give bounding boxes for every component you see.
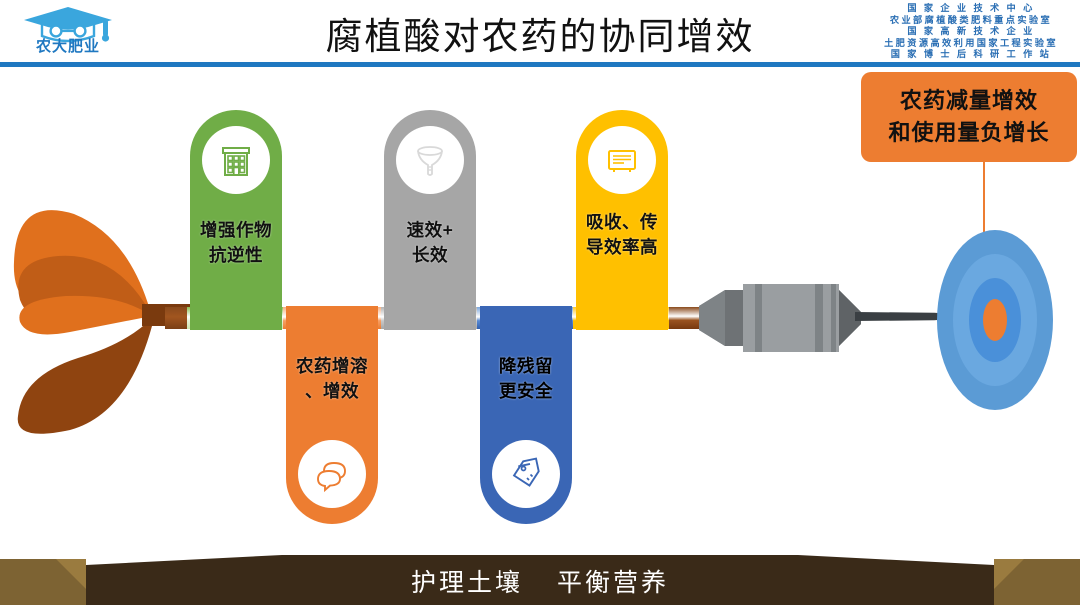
card-yellow-label-line2: 导效率高: [576, 235, 668, 260]
dart-barrel-icon: [699, 282, 861, 354]
card-gray-label: 速效+ 长效: [384, 218, 476, 268]
card-gray-icon-circle: [396, 126, 464, 194]
dart-target-icon: [935, 228, 1055, 413]
card-orange[interactable]: 农药增溶 、增效: [286, 306, 378, 524]
card-gray-label-line2: 长效: [384, 243, 476, 268]
funnel-icon: [410, 140, 450, 180]
card-yellow[interactable]: 吸收、传 导效率高: [576, 110, 668, 330]
card-blue-label-line1: 降残留: [480, 354, 572, 379]
footer-text-left: 护理土壤: [411, 568, 523, 597]
card-orange-label: 农药增溶 、增效: [286, 354, 378, 404]
dart-shaft-butt: [165, 307, 189, 329]
card-green-label-line1: 增强作物: [190, 218, 282, 243]
callout-line-2: 和使用量负增长: [888, 117, 1049, 149]
callout-banner[interactable]: 农药减量增效 和使用量负增长: [861, 72, 1077, 162]
card-blue-label: 降残留 更安全: [480, 354, 572, 404]
card-yellow-icon-circle: [588, 126, 656, 194]
dart-shaft-neck: [669, 307, 701, 329]
certificate-icon: [602, 140, 642, 180]
callout-line-1: 农药减量增效: [900, 85, 1038, 117]
card-green-label: 增强作物 抗逆性: [190, 218, 282, 268]
card-orange-label-line1: 农药增溶: [286, 354, 378, 379]
card-gray-label-line1: 速效+: [384, 218, 476, 243]
card-green-label-line2: 抗逆性: [190, 243, 282, 268]
card-gray[interactable]: 速效+ 长效: [384, 110, 476, 330]
card-yellow-label: 吸收、传 导效率高: [576, 210, 668, 260]
card-blue[interactable]: 降残留 更安全: [480, 306, 572, 524]
chat-bubbles-icon: [312, 454, 352, 494]
footer-text: 护理土壤平衡营养: [0, 563, 1080, 599]
footer-ribbon: 护理土壤平衡营养: [0, 547, 1080, 605]
card-blue-icon-circle: [492, 440, 560, 508]
card-green-icon-circle: [202, 126, 270, 194]
card-orange-icon-circle: [298, 440, 366, 508]
card-orange-label-line2: 、增效: [286, 379, 378, 404]
card-yellow-label-line1: 吸收、传: [576, 210, 668, 235]
footer-text-right: 平衡营养: [557, 568, 669, 597]
tags-icon: [506, 454, 546, 494]
slide-canvas: 农大肥业 腐植酸对农药的协同增效 国 家 企 业 技 术 中 心 农业部腐植酸类…: [0, 0, 1080, 605]
card-blue-label-line2: 更安全: [480, 379, 572, 404]
card-green[interactable]: 增强作物 抗逆性: [190, 110, 282, 330]
building-icon: [216, 140, 256, 180]
